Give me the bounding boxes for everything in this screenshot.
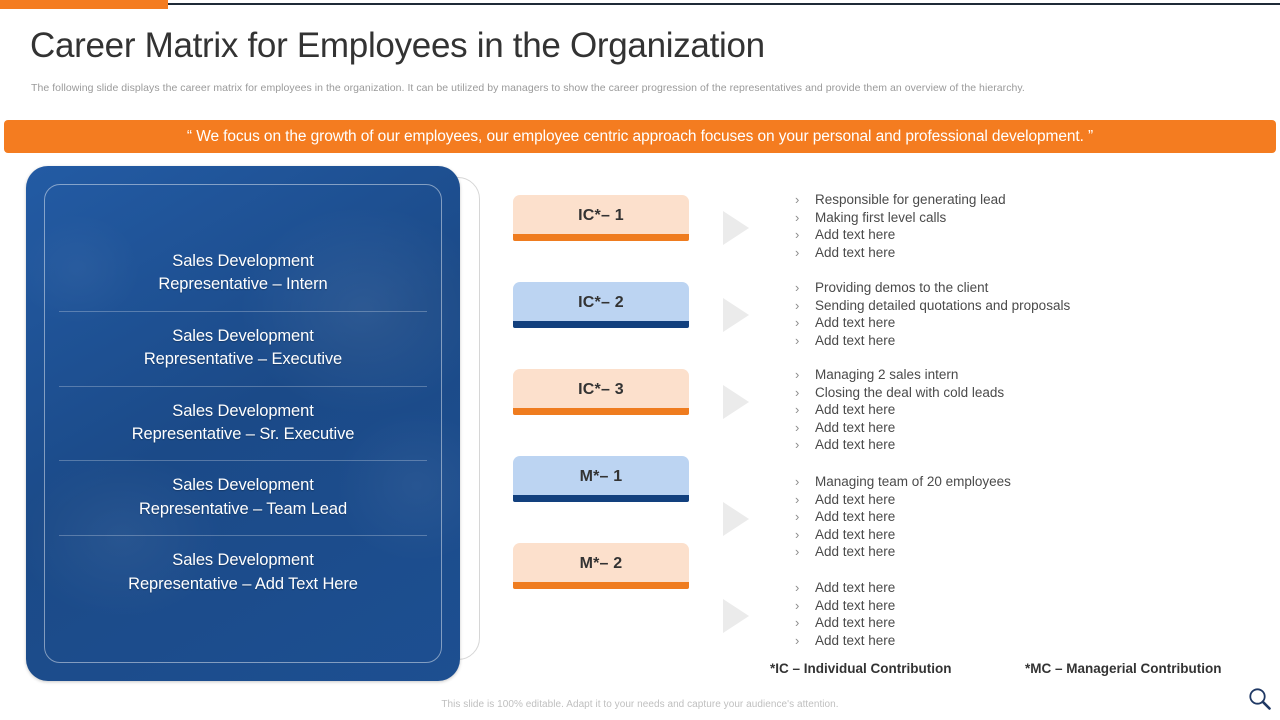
level-card-label: M*– 2 <box>580 555 623 573</box>
level-card-m-2[interactable]: M*– 2 <box>513 543 689 589</box>
chevron-right-icon: › <box>795 614 815 632</box>
level-card-accent-bar <box>513 234 689 241</box>
responsibility-bullet-text: Add text here <box>815 226 895 244</box>
role-item[interactable]: Sales Development Representative – Team … <box>59 460 427 535</box>
chevron-right-icon: › <box>795 436 815 454</box>
arrow-right-icon <box>723 298 749 332</box>
responsibility-bullet: ›Add text here <box>795 244 1215 262</box>
responsibility-bullet-text: Add text here <box>815 401 895 419</box>
role-line-1: Sales Development <box>59 250 427 273</box>
role-line-1: Sales Development <box>59 549 427 572</box>
chevron-right-icon: › <box>795 597 815 615</box>
role-line-1: Sales Development <box>59 400 427 423</box>
page-subtitle: The following slide displays the career … <box>31 82 1241 94</box>
responsibility-bullet-text: Add text here <box>815 579 895 597</box>
responsibility-bullet-text: Providing demos to the client <box>815 279 988 297</box>
level-card-accent-bar <box>513 408 689 415</box>
role-line-1: Sales Development <box>59 474 427 497</box>
responsibility-bullet-text: Closing the deal with cold leads <box>815 384 1004 402</box>
quote-banner: “ We focus on the growth of our employee… <box>4 120 1276 153</box>
page-title: Career Matrix for Employees in the Organ… <box>30 26 765 66</box>
level-card-ic-3[interactable]: IC*– 3 <box>513 369 689 415</box>
chevron-right-icon: › <box>795 419 815 437</box>
responsibility-group-m-2: ›Add text here›Add text here›Add text he… <box>795 579 1215 649</box>
level-card-accent-bar <box>513 582 689 589</box>
responsibility-bullet: ›Add text here <box>795 491 1215 509</box>
chevron-right-icon: › <box>795 226 815 244</box>
responsibility-bullet: ›Add text here <box>795 632 1215 650</box>
responsibility-bullet-text: Add text here <box>815 244 895 262</box>
responsibility-bullet: ›Managing 2 sales intern <box>795 366 1215 384</box>
responsibility-bullet: ›Making first level calls <box>795 209 1215 227</box>
responsibility-bullet-text: Managing 2 sales intern <box>815 366 958 384</box>
responsibility-group-ic-1: ›Responsible for generating lead›Making … <box>795 191 1215 261</box>
responsibility-bullet-text: Add text here <box>815 436 895 454</box>
responsibility-bullet: ›Responsible for generating lead <box>795 191 1215 209</box>
chevron-right-icon: › <box>795 279 815 297</box>
level-card-label: M*– 1 <box>580 468 623 486</box>
chevron-right-icon: › <box>795 401 815 419</box>
responsibility-bullet-text: Add text here <box>815 332 895 350</box>
arrow-right-icon <box>723 599 749 633</box>
top-rule-orange-segment <box>0 0 168 9</box>
responsibility-bullet: ›Add text here <box>795 314 1215 332</box>
arrow-right-icon <box>723 385 749 419</box>
responsibility-bullet-text: Managing team of 20 employees <box>815 473 1011 491</box>
quote-text: “ We focus on the growth of our employee… <box>187 128 1093 146</box>
responsibility-bullet: ›Add text here <box>795 597 1215 615</box>
responsibility-bullet: ›Providing demos to the client <box>795 279 1215 297</box>
responsibility-bullet: ›Add text here <box>795 436 1215 454</box>
levels-column: IC*– 1 IC*– 2 IC*– 3 M*– 1 M*– 2 <box>513 195 689 630</box>
chevron-right-icon: › <box>795 297 815 315</box>
level-card-m-1[interactable]: M*– 1 <box>513 456 689 502</box>
responsibility-bullet-text: Add text here <box>815 314 895 332</box>
chevron-right-icon: › <box>795 473 815 491</box>
chevron-right-icon: › <box>795 543 815 561</box>
responsibility-bullet: ›Add text here <box>795 543 1215 561</box>
chevron-right-icon: › <box>795 366 815 384</box>
chevron-right-icon: › <box>795 491 815 509</box>
responsibility-bullet-text: Add text here <box>815 526 895 544</box>
search-icon[interactable] <box>1247 686 1273 717</box>
responsibility-bullet-text: Add text here <box>815 614 895 632</box>
responsibility-bullet-text: Add text here <box>815 508 895 526</box>
responsibility-bullet: ›Add text here <box>795 579 1215 597</box>
top-accent-rule <box>0 0 1280 9</box>
responsibility-bullet: ›Add text here <box>795 419 1215 437</box>
legend: *IC – Individual Contribution *MC – Mana… <box>770 661 1250 676</box>
top-rule-navy-line <box>168 3 1280 5</box>
chevron-right-icon: › <box>795 209 815 227</box>
level-card-accent-bar <box>513 321 689 328</box>
chevron-right-icon: › <box>795 244 815 262</box>
chevron-right-icon: › <box>795 384 815 402</box>
chevron-right-icon: › <box>795 579 815 597</box>
role-line-2: Representative – Executive <box>59 348 427 371</box>
chevron-right-icon: › <box>795 314 815 332</box>
level-card-label: IC*– 1 <box>578 207 624 225</box>
chevron-right-icon: › <box>795 526 815 544</box>
footer-note: This slide is 100% editable. Adapt it to… <box>0 699 1280 710</box>
chevron-right-icon: › <box>795 332 815 350</box>
role-line-2: Representative – Team Lead <box>59 498 427 521</box>
chevron-right-icon: › <box>795 191 815 209</box>
level-card-label: IC*– 2 <box>578 294 624 312</box>
responsibility-bullet-text: Add text here <box>815 632 895 650</box>
responsibility-bullet-text: Responsible for generating lead <box>815 191 1006 209</box>
responsibility-bullet-text: Making first level calls <box>815 209 946 227</box>
responsibility-group-ic-3: ›Managing 2 sales intern›Closing the dea… <box>795 366 1215 454</box>
responsibility-bullet: ›Add text here <box>795 332 1215 350</box>
roles-panel: Sales Development Representative – Inter… <box>26 166 460 681</box>
legend-item-mc: *MC – Managerial Contribution <box>1025 661 1222 676</box>
responsibility-bullet: ›Add text here <box>795 226 1215 244</box>
chevron-right-icon: › <box>795 632 815 650</box>
responsibility-bullet: ›Add text here <box>795 614 1215 632</box>
responsibility-bullet: ›Sending detailed quotations and proposa… <box>795 297 1215 315</box>
responsibility-bullet: ›Add text here <box>795 401 1215 419</box>
level-card-ic-1[interactable]: IC*– 1 <box>513 195 689 241</box>
arrow-right-icon <box>723 502 749 536</box>
roles-inner-frame: Sales Development Representative – Inter… <box>44 184 442 663</box>
responsibility-bullet-text: Add text here <box>815 543 895 561</box>
responsibility-bullet-text: Add text here <box>815 597 895 615</box>
responsibility-bullet-text: Sending detailed quotations and proposal… <box>815 297 1070 315</box>
role-line-2: Representative – Add Text Here <box>59 573 427 596</box>
role-item[interactable]: Sales Development Representative – Inter… <box>59 237 427 311</box>
responsibility-bullet-text: Add text here <box>815 419 895 437</box>
level-card-label: IC*– 3 <box>578 381 624 399</box>
responsibility-group-m-1: ›Managing team of 20 employees›Add text … <box>795 473 1215 561</box>
level-card-ic-2[interactable]: IC*– 2 <box>513 282 689 328</box>
chevron-right-icon: › <box>795 508 815 526</box>
legend-item-ic: *IC – Individual Contribution <box>770 661 1025 676</box>
arrow-right-icon <box>723 211 749 245</box>
role-line-2: Representative – Intern <box>59 273 427 296</box>
responsibility-bullet: ›Closing the deal with cold leads <box>795 384 1215 402</box>
role-item[interactable]: Sales Development Representative – Execu… <box>59 311 427 386</box>
role-line-1: Sales Development <box>59 325 427 348</box>
responsibility-bullet: ›Add text here <box>795 526 1215 544</box>
role-item[interactable]: Sales Development Representative – Add T… <box>59 535 427 610</box>
role-line-2: Representative – Sr. Executive <box>59 423 427 446</box>
responsibility-group-ic-2: ›Providing demos to the client›Sending d… <box>795 279 1215 349</box>
responsibility-bullet: ›Add text here <box>795 508 1215 526</box>
role-item[interactable]: Sales Development Representative – Sr. E… <box>59 386 427 461</box>
responsibility-bullet: ›Managing team of 20 employees <box>795 473 1215 491</box>
responsibility-bullet-text: Add text here <box>815 491 895 509</box>
level-card-accent-bar <box>513 495 689 502</box>
